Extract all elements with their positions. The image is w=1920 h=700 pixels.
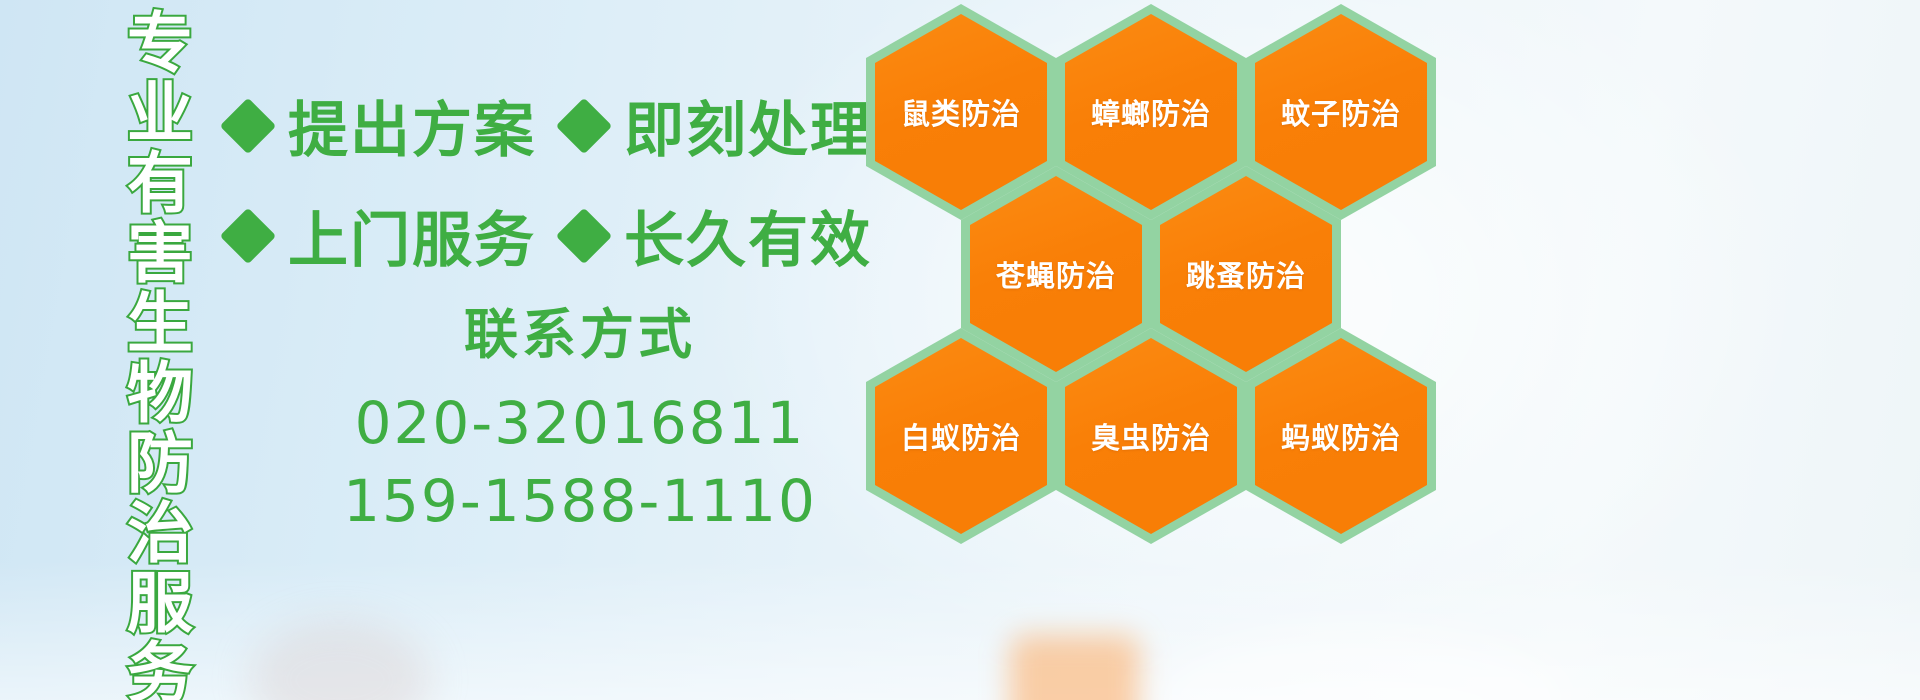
hex-label: 臭虫防治	[1091, 415, 1211, 457]
service-honeycomb: 鼠类防治 蟑螂防治 蚊子防治 苍蝇防治 跳蚤防治 白蚁防治 臭虫防治 蚂蚁	[860, 0, 1460, 700]
contact-phone-mobile[interactable]: 159-1588-1110	[300, 462, 860, 540]
contact-block: 联系方式 020-32016811 159-1588-1110	[300, 300, 860, 540]
feature-label: 即刻处理	[624, 82, 872, 169]
diamond-bullet-icon	[220, 97, 277, 154]
hex-label: 蚂蚁防治	[1281, 415, 1401, 457]
vertical-headline-char: 服	[127, 568, 193, 638]
feature-item-long-lasting-effect: 长久有效	[564, 192, 900, 279]
hex-label: 跳蚤防治	[1186, 253, 1306, 295]
contact-phone-landline[interactable]: 020-32016811	[300, 384, 860, 462]
vertical-headline-char: 防	[127, 428, 193, 498]
hex-label: 白蚁防治	[901, 415, 1021, 457]
diamond-bullet-icon	[556, 97, 613, 154]
contact-title: 联系方式	[300, 300, 860, 370]
hex-label: 蚊子防治	[1281, 91, 1401, 133]
hex-label: 蟑螂防治	[1091, 91, 1211, 133]
vertical-headline-char: 专	[127, 8, 193, 78]
feature-label: 提出方案	[288, 82, 536, 169]
feature-row-1: 提出方案 即刻处理	[228, 82, 900, 169]
feature-label: 上门服务	[288, 192, 536, 279]
diamond-bullet-icon	[556, 207, 613, 264]
vertical-headline-char: 生	[127, 288, 193, 358]
vertical-headline-char: 害	[127, 218, 193, 288]
vertical-headline-char: 物	[127, 358, 193, 428]
diamond-bullet-icon	[220, 207, 277, 264]
hex-label: 苍蝇防治	[996, 253, 1116, 295]
feature-row-2: 上门服务 长久有效	[228, 192, 900, 279]
feature-label: 长久有效	[624, 192, 872, 279]
promo-banner: 专 业 有 害 生 物 防 治 服 务 提出方案 即刻处理 上门服务 长久有效 …	[0, 0, 1920, 700]
background-blur-shape-left	[250, 620, 430, 700]
hex-label: 鼠类防治	[901, 91, 1021, 133]
vertical-headline: 专 业 有 害 生 物 防 治 服 务	[108, 8, 212, 580]
feature-item-propose-plan: 提出方案	[228, 82, 564, 169]
vertical-headline-char: 治	[127, 498, 193, 568]
feature-item-door-to-door-service: 上门服务	[228, 192, 564, 279]
feature-item-immediate-handling: 即刻处理	[564, 82, 900, 169]
vertical-headline-char: 务	[127, 638, 193, 700]
vertical-headline-char: 业	[127, 78, 193, 148]
vertical-headline-char: 有	[127, 148, 193, 218]
